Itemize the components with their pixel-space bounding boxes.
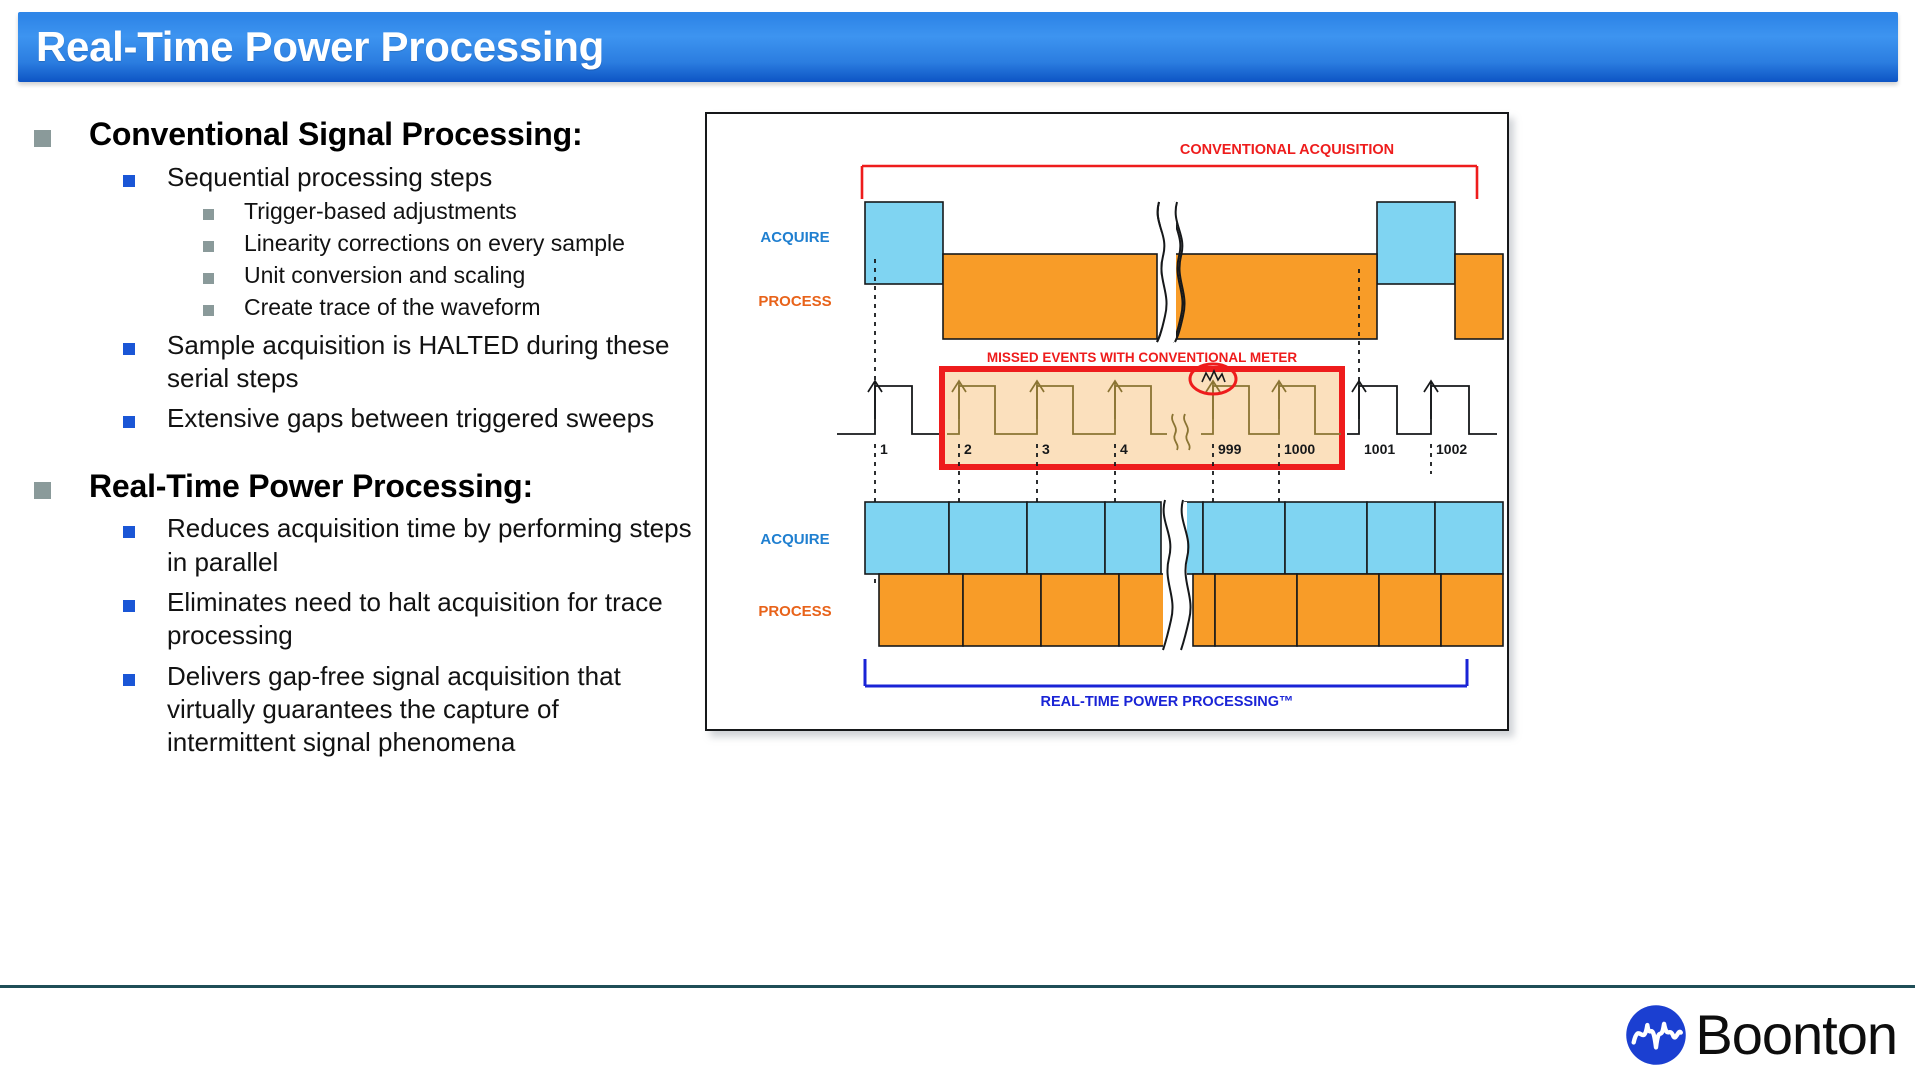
acquire-block-bottom-4 [1105, 502, 1161, 574]
acquire-block-top-2 [1377, 202, 1455, 284]
process-block-top-1 [943, 254, 1157, 339]
bullet-linearity-corrections: Linearity corrections on every sample [18, 229, 708, 258]
acquire-block-bottom-3 [1027, 502, 1105, 574]
pulse-waveform-1 [837, 386, 939, 434]
bullet-label: Eliminates need to halt acquisition for … [167, 586, 692, 653]
process-block-bottom-6 [1215, 574, 1297, 646]
brand-name: Boonton [1695, 1007, 1897, 1063]
section-heading-realtime: Real-Time Power Processing: [18, 468, 708, 506]
bullet-extensive-gaps: Extensive gaps between triggered sweeps [18, 402, 708, 435]
missed-events-region [942, 369, 1342, 467]
pulse-number-2: 2 [964, 441, 972, 457]
bullet-marker-level2 [123, 674, 135, 686]
bullet-label: Extensive gaps between triggered sweeps [167, 402, 654, 435]
process-block-bottom-3 [1041, 574, 1119, 646]
pulse-waveform-1001 [1347, 386, 1411, 434]
process-block-top-2 [1175, 254, 1377, 339]
process-block-bottom-4 [1119, 574, 1165, 646]
bullet-gap-free-acquisition: Delivers gap-free signal acquisition tha… [18, 660, 708, 760]
bullet-marker-level1 [34, 482, 51, 499]
bullet-marker-level1 [34, 130, 51, 147]
bullet-unit-conversion: Unit conversion and scaling [18, 261, 708, 290]
bullet-sample-halted: Sample acquisition is HALTED during thes… [18, 329, 708, 396]
bullet-marker-level2 [123, 343, 135, 355]
bullet-label: Sample acquisition is HALTED during thes… [167, 329, 692, 396]
bullet-create-trace: Create trace of the waveform [18, 293, 708, 322]
acquire-block-bottom-1 [865, 502, 949, 574]
acquire-label-bottom: ACQUIRE [760, 531, 829, 548]
bullet-marker-level2 [123, 175, 135, 187]
acquire-block-bottom-8 [1367, 502, 1435, 574]
bullet-label: Trigger-based adjustments [244, 197, 517, 226]
process-block-bottom-2 [963, 574, 1041, 646]
pulse-number-1000: 1000 [1284, 441, 1315, 457]
bullet-marker-level3 [203, 273, 214, 284]
acquire-block-bottom-6 [1203, 502, 1285, 574]
bullet-marker-level3 [203, 305, 214, 316]
bullet-marker-level2 [123, 526, 135, 538]
section-spacer [18, 436, 708, 462]
missed-events-label: MISSED EVENTS WITH CONVENTIONAL METER [987, 350, 1298, 365]
acquire-block-bottom-2 [949, 502, 1027, 574]
bullet-reduces-acquisition-time: Reduces acquisition time by performing s… [18, 512, 708, 579]
process-block-bottom-7 [1297, 574, 1379, 646]
process-block-bottom-5 [1193, 574, 1215, 646]
acquire-label-top: ACQUIRE [760, 229, 829, 246]
process-block-bottom-8 [1379, 574, 1441, 646]
acquire-block-bottom-7 [1285, 502, 1367, 574]
section-heading-label: Real-Time Power Processing: [89, 468, 533, 506]
pulse-number-4: 4 [1120, 441, 1128, 457]
bullet-label: Reduces acquisition time by performing s… [167, 512, 692, 579]
process-label-bottom: PROCESS [758, 603, 831, 620]
timing-diagram-panel: CONVENTIONAL ACQUISITION ACQUIRE PROCESS… [705, 112, 1509, 731]
bullet-sequential-steps: Sequential processing steps [18, 161, 708, 194]
bullet-label: Linearity corrections on every sample [244, 229, 625, 258]
page-title: Real-Time Power Processing [36, 23, 604, 71]
bullet-trigger-adjustments: Trigger-based adjustments [18, 197, 708, 226]
boonton-logo-icon [1625, 1004, 1687, 1066]
process-block-bottom-1 [879, 574, 963, 646]
bullet-eliminates-halt: Eliminates need to halt acquisition for … [18, 586, 708, 653]
pulse-number-1: 1 [880, 441, 888, 457]
bullet-marker-level2 [123, 416, 135, 428]
slide-body-content: Conventional Signal Processing: Sequenti… [18, 110, 708, 920]
slide-title-bar: Real-Time Power Processing [18, 12, 1898, 82]
acquire-block-top-1 [865, 202, 943, 284]
process-block-bottom-9 [1441, 574, 1503, 646]
pulse-number-999: 999 [1218, 441, 1242, 457]
footer-divider [0, 985, 1915, 988]
pulse-number-1001: 1001 [1364, 441, 1395, 457]
pulse-number-3: 3 [1042, 441, 1050, 457]
bullet-label: Delivers gap-free signal acquisition tha… [167, 660, 692, 760]
section-heading-label: Conventional Signal Processing: [89, 116, 582, 154]
realtime-power-processing-label: REAL-TIME POWER PROCESSING™ [1041, 694, 1294, 710]
bullet-marker-level2 [123, 600, 135, 612]
bullet-label: Unit conversion and scaling [244, 261, 525, 290]
conventional-acquisition-label: CONVENTIONAL ACQUISITION [1180, 142, 1394, 158]
process-block-top-3 [1455, 254, 1503, 339]
bullet-label: Sequential processing steps [167, 161, 492, 194]
bullet-label: Create trace of the waveform [244, 293, 541, 322]
process-label-top: PROCESS [758, 293, 831, 310]
bullet-marker-level3 [203, 209, 214, 220]
brand-logo: Boonton [1625, 1000, 1897, 1070]
bullet-marker-level3 [203, 241, 214, 252]
section-heading-conventional: Conventional Signal Processing: [18, 116, 708, 154]
pulse-waveform-1002 [1411, 386, 1497, 434]
pulse-number-1002: 1002 [1436, 441, 1467, 457]
acquire-block-bottom-9 [1435, 502, 1503, 574]
realtime-bracket [865, 659, 1467, 686]
